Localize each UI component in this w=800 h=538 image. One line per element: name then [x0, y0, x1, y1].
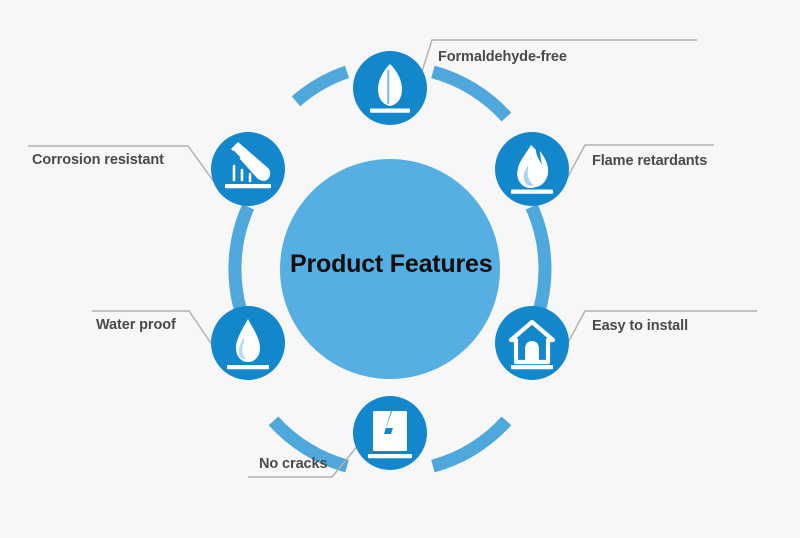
feature-node-water-proof[interactable]	[211, 306, 285, 380]
arc-segment-4	[433, 421, 507, 466]
feature-label-formaldehyde-free: Formaldehyde-free	[438, 49, 567, 65]
arc-segment-2	[433, 72, 507, 117]
cracked-panel-icon-baseline	[368, 454, 412, 458]
feature-node-no-cracks[interactable]	[353, 396, 427, 470]
test-tube-pouring-icon-baseline	[225, 184, 271, 188]
center-title: Product Features	[290, 250, 492, 279]
feature-node-corrosion-resistant[interactable]	[211, 132, 285, 206]
arc-segment-1	[296, 72, 347, 101]
leaf-icon-baseline	[370, 109, 410, 113]
flame-icon-baseline	[511, 190, 553, 194]
water-drop-icon-baseline	[227, 365, 269, 369]
feature-node-easy-to-install[interactable]	[495, 306, 569, 380]
feature-label-easy-to-install: Easy to install	[592, 318, 688, 334]
diagram-canvas: Product Features Formaldehyde-free Flame…	[0, 0, 800, 538]
feature-label-flame-retardants: Flame retardants	[592, 153, 707, 169]
icon-circle-corrosion-resistant	[211, 132, 285, 206]
feature-label-water-proof: Water proof	[96, 317, 176, 333]
house-icon-baseline	[511, 365, 553, 369]
feature-label-corrosion-resistant: Corrosion resistant	[32, 152, 164, 168]
feature-node-flame-retardants[interactable]	[495, 132, 569, 206]
feature-label-no-cracks: No cracks	[259, 456, 327, 472]
feature-node-formaldehyde-free[interactable]	[353, 51, 427, 125]
